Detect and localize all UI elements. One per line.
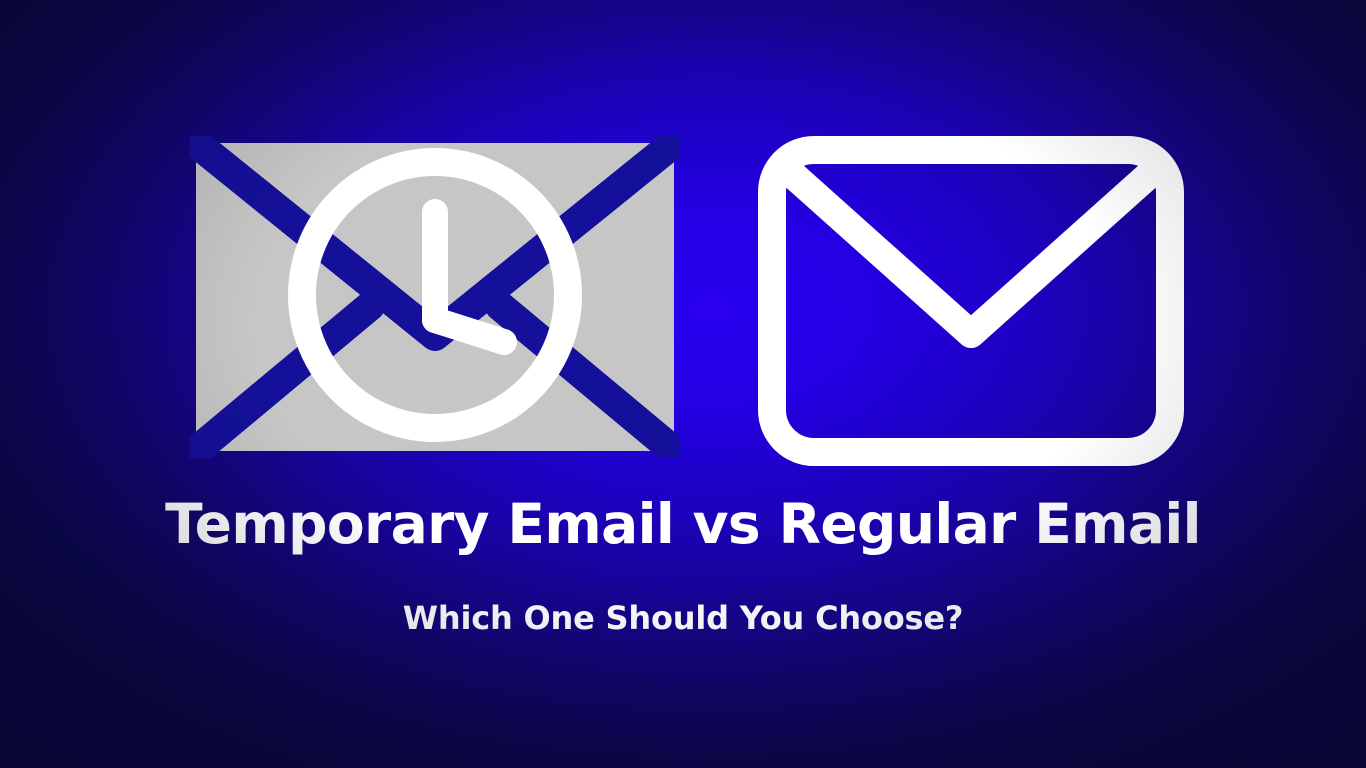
temporary-email-icon [190, 136, 680, 458]
page-title: Temporary Email vs Regular Email [0, 495, 1366, 553]
banner-text-block: Temporary Email vs Regular Email Which O… [0, 495, 1366, 636]
regular-envelope-flap-v [792, 174, 1150, 334]
regular-email-icon [756, 136, 1186, 466]
icons-row [0, 0, 1366, 768]
page-subtitle: Which One Should You Choose? [0, 601, 1366, 636]
email-comparison-banner: Temporary Email vs Regular Email Which O… [0, 0, 1366, 768]
